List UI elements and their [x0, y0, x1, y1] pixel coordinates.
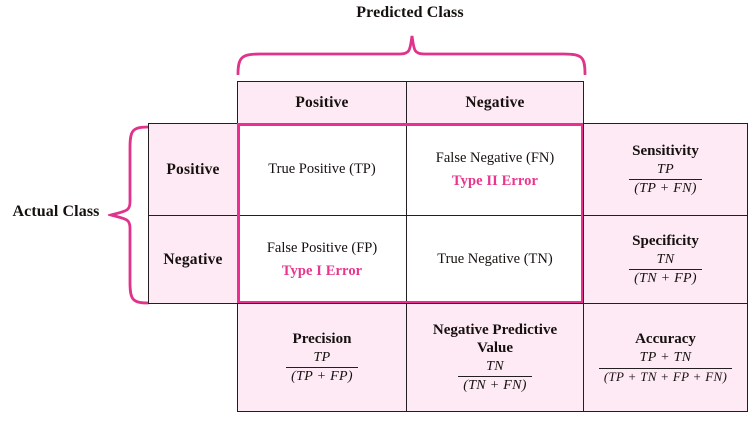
accuracy-denominator: (TP + TN + FP + FN) [599, 368, 732, 385]
type-ii-error-label: Type II Error [452, 173, 538, 190]
predicted-class-brace-icon [234, 33, 588, 75]
specificity-denominator: (TN + FP) [629, 269, 702, 287]
sensitivity-numerator: TP [652, 162, 679, 179]
actual-class-label: Actual Class [6, 203, 106, 221]
column-header-negative-label: Negative [465, 94, 524, 112]
metric-precision: Precision TP (TP + FP) [237, 303, 407, 412]
metric-specificity: Specificity TN (TN + FP) [583, 215, 748, 304]
sensitivity-formula: TP (TP + FN) [629, 162, 701, 197]
npv-formula: TN (TN + FN) [458, 359, 532, 394]
metric-sensitivity: Sensitivity TP (TP + FN) [583, 123, 748, 216]
npv-denominator: (TN + FN) [458, 376, 532, 394]
row-header-negative: Negative [148, 215, 238, 304]
cell-false-positive: False Positive (FP) Type I Error [237, 215, 407, 304]
sensitivity-denominator: (TP + FN) [629, 179, 701, 197]
row-header-positive: Positive [148, 123, 238, 216]
false-negative-label: False Negative (FN) [436, 149, 554, 167]
type-i-error-label: Type I Error [282, 263, 362, 280]
predicted-class-label: Predicted Class [237, 4, 583, 22]
precision-numerator: TP [309, 350, 336, 367]
row-header-positive-label: Positive [166, 161, 219, 179]
precision-formula: TP (TP + FP) [286, 350, 358, 385]
specificity-formula: TN (TN + FP) [629, 252, 702, 287]
column-header-positive-label: Positive [295, 94, 348, 112]
true-negative-label: True Negative (TN) [437, 250, 552, 268]
column-header-positive: Positive [237, 81, 407, 124]
npv-title: Negative Predictive Value [415, 321, 575, 357]
accuracy-title: Accuracy [635, 330, 696, 348]
actual-class-brace-icon [108, 124, 150, 306]
cell-true-positive: True Positive (TP) [237, 123, 407, 216]
accuracy-numerator: TP + TN [635, 350, 697, 367]
precision-denominator: (TP + FP) [286, 367, 358, 385]
cell-false-negative: False Negative (FN) Type II Error [406, 123, 584, 216]
metric-negative-predictive-value: Negative Predictive Value TN (TN + FN) [406, 303, 584, 412]
row-header-negative-label: Negative [163, 251, 222, 269]
false-positive-label: False Positive (FP) [267, 239, 377, 257]
sensitivity-title: Sensitivity [632, 142, 699, 160]
true-positive-label: True Positive (TP) [268, 160, 375, 178]
accuracy-formula: TP + TN (TP + TN + FP + FN) [599, 350, 732, 384]
specificity-title: Specificity [632, 232, 699, 250]
metric-accuracy: Accuracy TP + TN (TP + TN + FP + FN) [583, 303, 748, 412]
column-header-negative: Negative [406, 81, 584, 124]
precision-title: Precision [293, 330, 352, 348]
specificity-numerator: TN [652, 252, 680, 269]
npv-numerator: TN [481, 359, 509, 376]
cell-true-negative: True Negative (TN) [406, 215, 584, 304]
